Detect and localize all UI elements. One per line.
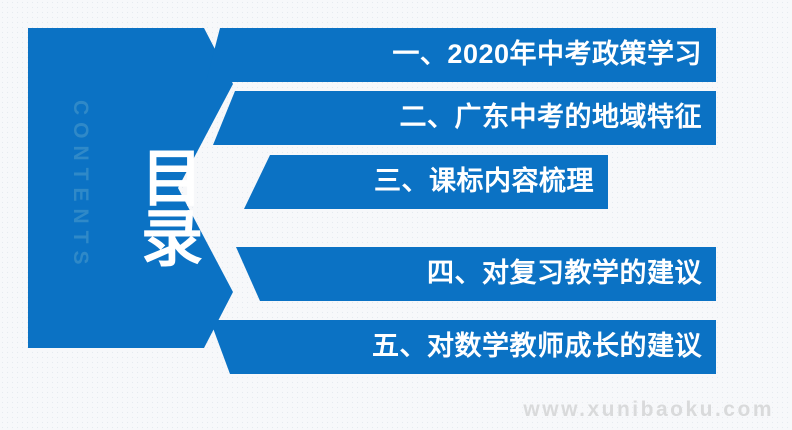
contents-slide: CONTENTS 目 录 一、2020年中考政策学习 二、广东中考的地域特征 三… [0, 0, 792, 430]
contents-title-char-1: 目 [126, 150, 218, 210]
contents-item-1[interactable]: 一、2020年中考政策学习 [206, 28, 716, 82]
contents-item-3-label: 三、课标内容梳理 [374, 168, 594, 197]
contents-title-char-2: 录 [126, 210, 218, 270]
contents-item-5[interactable]: 五、对数学教师成长的建议 [210, 320, 716, 374]
contents-item-5-label: 五、对数学教师成长的建议 [372, 333, 702, 362]
contents-item-2[interactable]: 二、广东中考的地域特征 [213, 91, 716, 145]
contents-vertical-label: CONTENTS [68, 100, 92, 260]
contents-item-2-label: 二、广东中考的地域特征 [400, 104, 703, 133]
contents-item-4-label: 四、对复习教学的建议 [427, 260, 702, 289]
contents-item-1-label: 一、2020年中考政策学习 [392, 41, 702, 70]
contents-item-3[interactable]: 三、课标内容梳理 [244, 155, 608, 209]
watermark: www.xunibaoku.com [523, 398, 774, 422]
contents-panel: CONTENTS 目 录 [28, 28, 233, 348]
contents-title: 目 录 [126, 150, 218, 270]
contents-item-4[interactable]: 四、对复习教学的建议 [236, 247, 716, 301]
